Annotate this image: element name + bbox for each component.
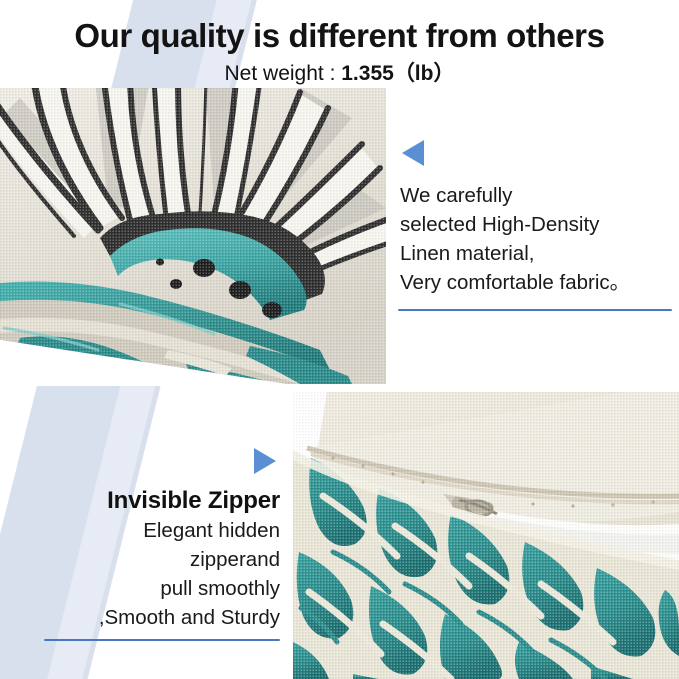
callout-zipper: Invisible Zipper Elegant hidden zipperan… [10, 448, 288, 641]
callout-zipper-line-3: pull smoothly [10, 574, 280, 603]
net-weight-label: Net weight : [225, 62, 342, 85]
callout-fabric: We carefully selected High-Density Linen… [396, 140, 672, 311]
callout-zipper-line-4: ,Smooth and Sturdy [10, 603, 280, 632]
callout-zipper-line-2: zipperand [10, 545, 280, 574]
triangle-right-icon [254, 448, 276, 474]
triangle-left-icon [402, 140, 424, 166]
callout-zipper-line-1: Elegant hidden [10, 516, 280, 545]
fabric-closeup-illustration [0, 88, 386, 384]
header: Our quality is different from others Net… [0, 0, 679, 84]
net-weight-line: Net weight : 1.355（lb） [0, 63, 679, 84]
product-photo-fabric-closeup [0, 88, 386, 384]
page-title: Our quality is different from others [0, 19, 679, 52]
net-weight-value: 1.355 [341, 62, 394, 85]
callout-fabric-line-1: We carefully [400, 181, 672, 210]
zipper-closeup-illustration [293, 392, 679, 679]
callout-fabric-rule [398, 309, 672, 311]
net-weight-unit: （lb） [394, 62, 455, 85]
callout-fabric-text: We carefully selected High-Density Linen… [400, 181, 672, 297]
callout-fabric-line-2: selected High-Density [400, 210, 672, 239]
callout-fabric-line-4: Very comfortable fabric。 [400, 268, 672, 297]
callout-zipper-heading: Invisible Zipper [10, 486, 280, 516]
callout-zipper-text: Elegant hidden zipperand pull smoothly ,… [10, 516, 280, 632]
infographic-page: Our quality is different from others Net… [0, 0, 679, 679]
product-photo-zipper-closeup [293, 392, 679, 679]
callout-fabric-line-3: Linen material, [400, 239, 672, 268]
callout-zipper-rule [44, 639, 280, 641]
